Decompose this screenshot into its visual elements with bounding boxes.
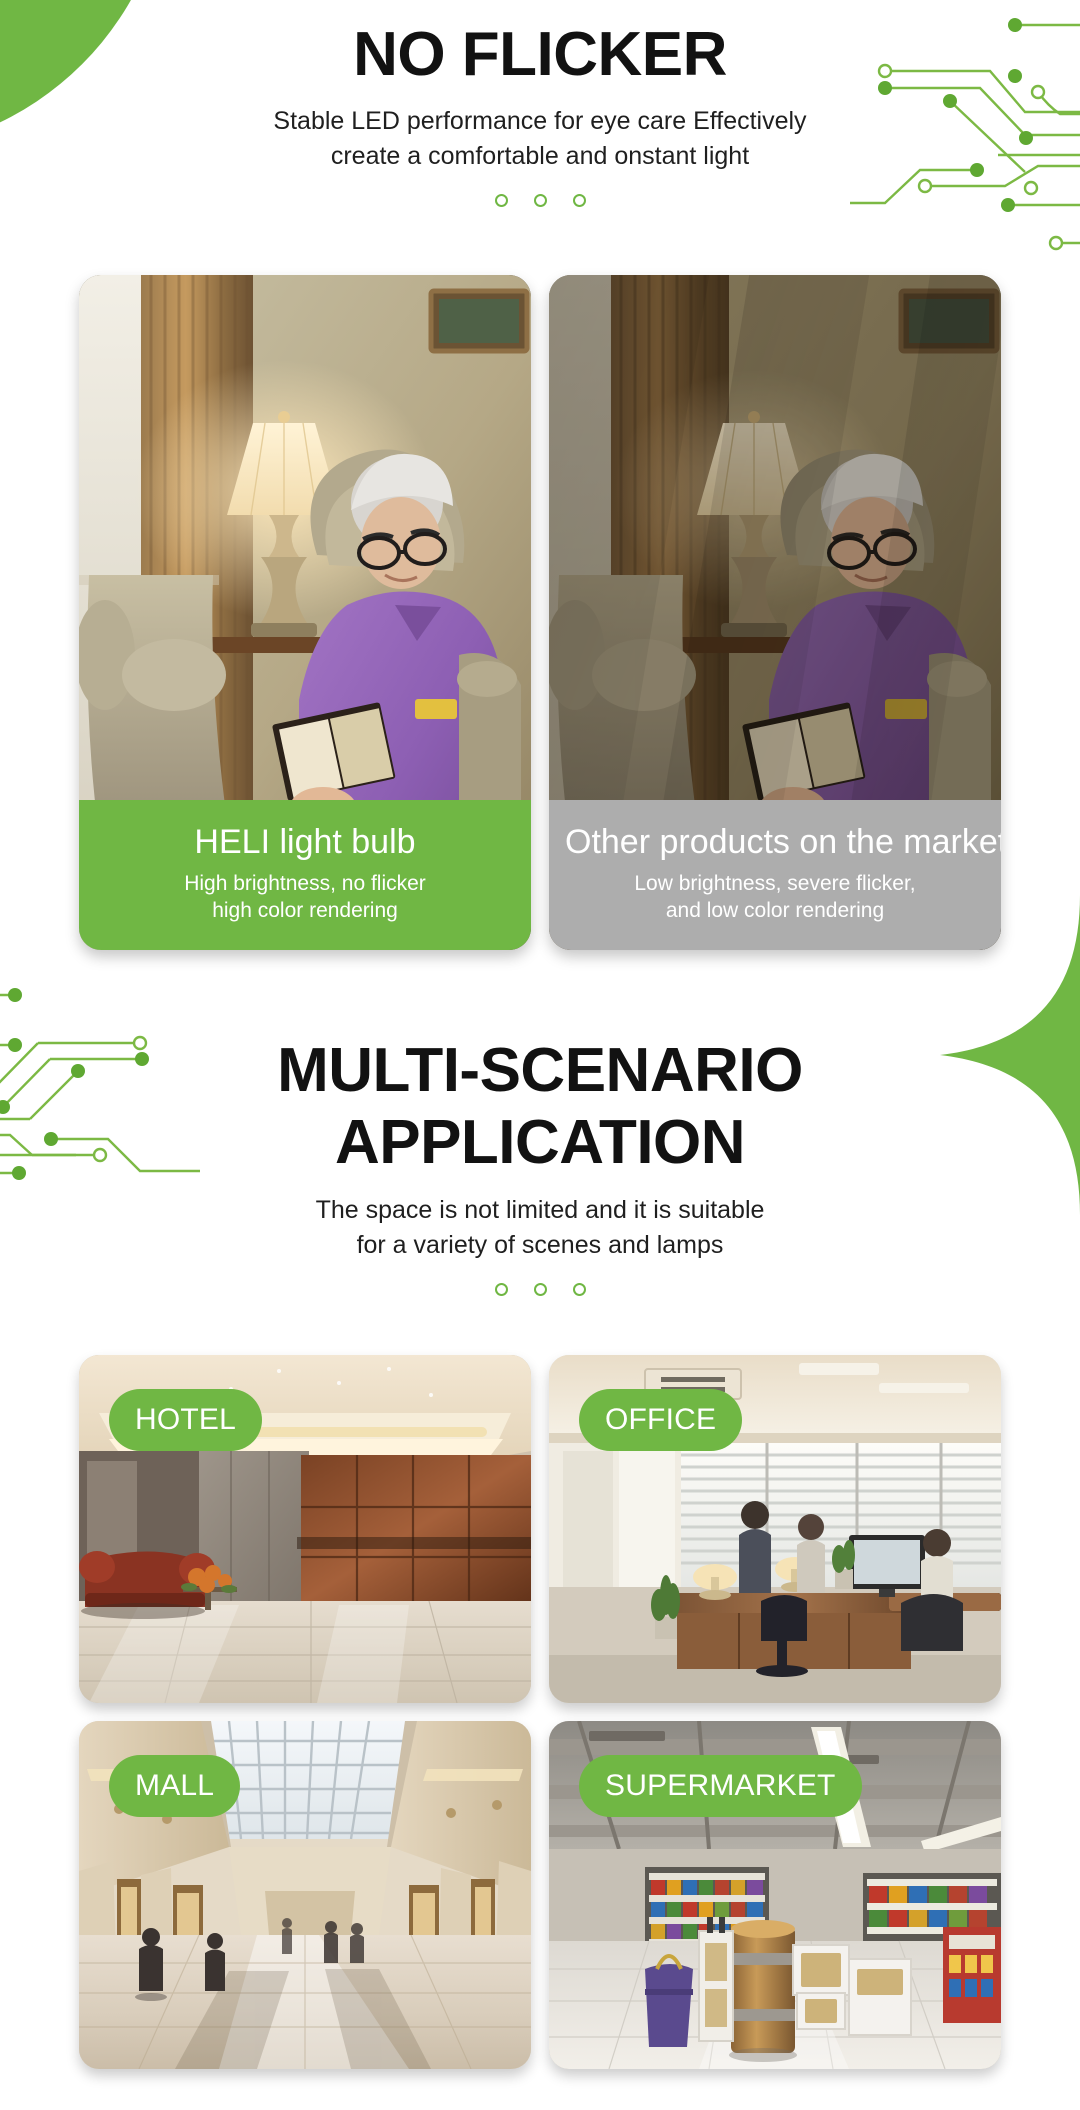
scenario-card-office[interactable]: OFFICE <box>549 1355 1001 1703</box>
comparison-card-other[interactable]: Other products on the market Low brightn… <box>549 275 1001 950</box>
dot-separator-top <box>0 194 1080 207</box>
section-no-flicker: NO FLICKER Stable LED performance for ey… <box>0 0 1080 207</box>
subtitle-line-1: Stable LED performance for eye care Effe… <box>273 107 806 135</box>
scenario-badge-supermarket: SUPERMARKET <box>579 1755 862 1817</box>
subtitle-line-2: create a comfortable and onstant light <box>331 142 749 170</box>
title-line-2: APPLICATION <box>335 1108 745 1177</box>
shopper <box>350 1923 364 1963</box>
scenario-badge-mall: MALL <box>109 1755 240 1817</box>
comparison-caption-heli: HELI light bulb High brightness, no flic… <box>79 800 531 950</box>
shopper <box>205 1933 225 1991</box>
dot-icon <box>534 1283 547 1296</box>
purple-bag <box>645 1956 693 2047</box>
comparison-caption-other: Other products on the market Low brightn… <box>549 800 1001 950</box>
scenario-card-hotel[interactable]: HOTEL <box>79 1355 531 1703</box>
comparison-desc-line-2: and low color rendering <box>666 899 884 922</box>
subtitle-no-flicker: Stable LED performance for eye care Effe… <box>0 104 1080 174</box>
scenario-card-grid: HOTEL <box>0 1355 1080 2069</box>
scenario-card-mall[interactable]: MALL <box>79 1721 531 2069</box>
subtitle-line-2: for a variety of scenes and lamps <box>357 1231 724 1259</box>
page-title-multi-scenario: MULTI-SCENARIO APPLICATION <box>0 1035 1080 1179</box>
dot-icon <box>573 194 586 207</box>
subtitle-multi-scenario: The space is not limited and it is suita… <box>0 1193 1080 1263</box>
shopper <box>282 1918 292 1954</box>
dot-icon <box>495 1283 508 1296</box>
comparison-desc-line-2: high color rendering <box>212 899 398 922</box>
dot-icon <box>495 194 508 207</box>
comparison-desc-line-1: High brightness, no flicker <box>184 872 426 895</box>
title-line-1: MULTI-SCENARIO <box>277 1036 803 1105</box>
comparison-title: Other products on the market <box>565 820 985 864</box>
section-multi-scenario: MULTI-SCENARIO APPLICATION The space is … <box>0 1035 1080 1296</box>
dot-icon <box>573 1283 586 1296</box>
comparison-description: High brightness, no flicker high color r… <box>95 870 515 924</box>
comparison-desc-line-1: Low brightness, severe flicker, <box>634 872 915 895</box>
scenario-card-supermarket[interactable]: SUPERMARKET <box>549 1721 1001 2069</box>
person-seated-1 <box>797 1514 825 1593</box>
dot-icon <box>534 194 547 207</box>
dot-separator-bottom <box>0 1283 1080 1296</box>
page-title-no-flicker: NO FLICKER <box>0 0 1080 90</box>
scenario-badge-office: OFFICE <box>579 1389 742 1451</box>
scenario-badge-hotel: HOTEL <box>109 1389 262 1451</box>
comparison-card-row: HELI light bulb High brightness, no flic… <box>0 275 1080 950</box>
product-detail-page: NO FLICKER Stable LED performance for ey… <box>0 0 1080 2110</box>
comparison-card-heli[interactable]: HELI light bulb High brightness, no flic… <box>79 275 531 950</box>
comparison-title: HELI light bulb <box>95 820 515 864</box>
person-standing <box>739 1501 771 1593</box>
subtitle-line-1: The space is not limited and it is suita… <box>316 1196 765 1224</box>
shopper <box>324 1921 338 1963</box>
comparison-description: Low brightness, severe flicker, and low … <box>565 870 985 924</box>
barrel-display <box>729 1920 797 2062</box>
